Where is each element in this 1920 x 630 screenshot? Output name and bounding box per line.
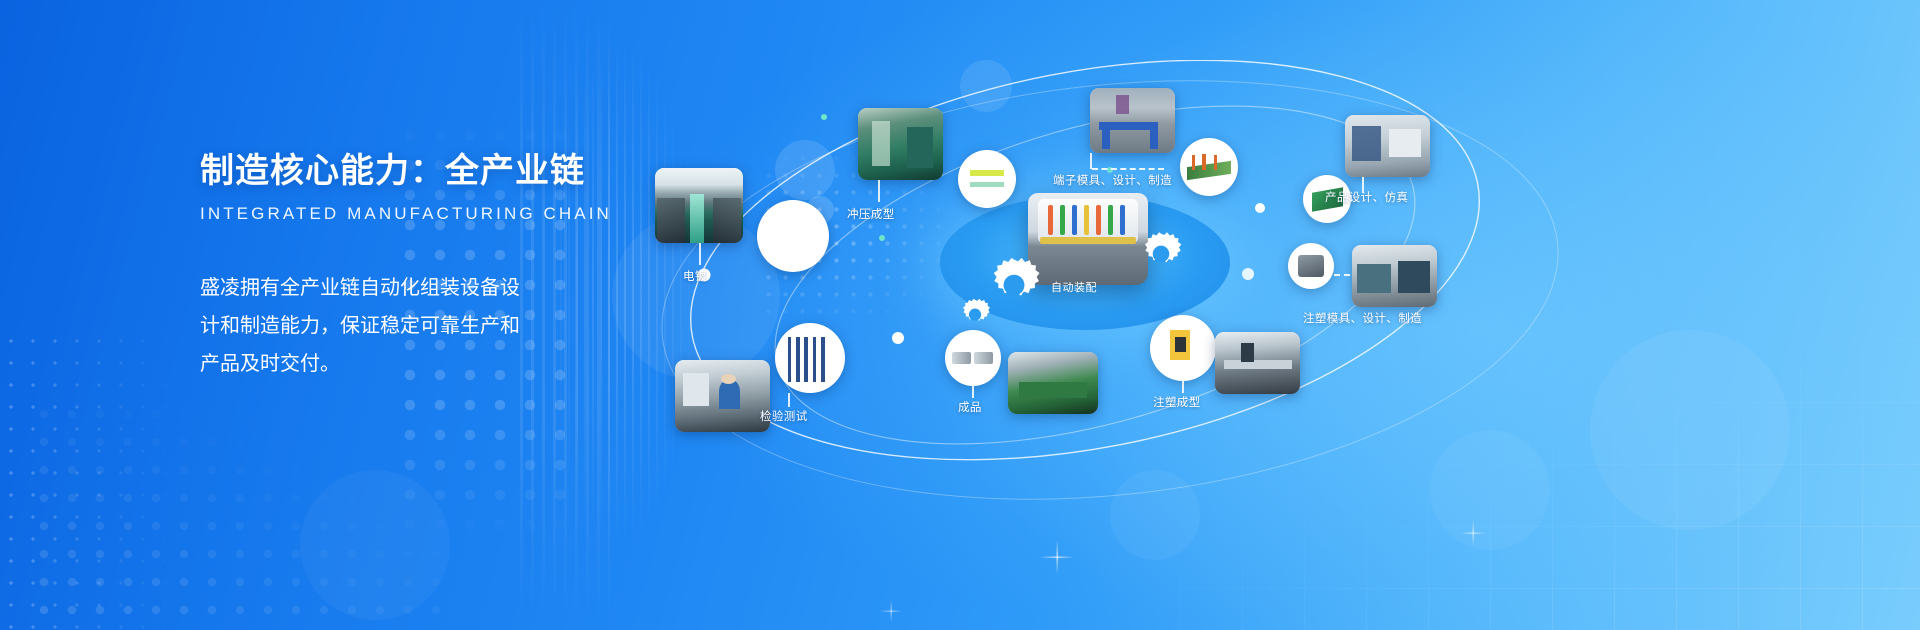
- satellite-assembly-line[interactable]: [1008, 352, 1098, 414]
- connector-line: [788, 393, 790, 407]
- dashed-connector: [1324, 274, 1350, 276]
- node-label-inspection-test: 检验测试: [760, 408, 808, 424]
- manufacturing-chain-diagram: 自动装配 电镀: [640, 60, 1920, 580]
- auto-assembly-module: [1028, 193, 1148, 285]
- node-circ-injection-form[interactable]: [1150, 315, 1216, 381]
- node-label-finished-goods: 成品: [958, 399, 982, 415]
- satellite-press-machine[interactable]: [1215, 332, 1300, 394]
- node-thumb-electroplating[interactable]: [655, 168, 743, 243]
- dot-grid-left: [0, 330, 190, 630]
- node-label-stamping: 冲压成型: [847, 206, 895, 222]
- body-copy: 盛凌拥有全产业链自动化组装设备设 计和制造能力，保证稳定可靠生产和 产品及时交付…: [200, 269, 620, 383]
- gear-icon: [1138, 230, 1184, 276]
- satellite-gray-mold[interactable]: [1288, 243, 1334, 289]
- satellite-probe-array[interactable]: [775, 323, 845, 393]
- connector-line: [699, 243, 701, 265]
- satellite-gold-reel[interactable]: [757, 200, 829, 272]
- page-title: 制造核心能力：全产业链: [200, 143, 620, 192]
- banner-stage: 制造核心能力：全产业链 INTEGRATED MANUFACTURING CHA…: [0, 0, 1920, 630]
- gear-icon: [985, 255, 1043, 313]
- sparkle-icon: [880, 600, 902, 622]
- node-label-electroplating: 电镀: [683, 268, 707, 284]
- hub-label: 自动装配: [1051, 279, 1097, 295]
- node-label-injection-mold: 注塑模具、设计、制造: [1303, 310, 1422, 326]
- dashed-connector: [1092, 168, 1164, 170]
- connector-line: [1182, 381, 1184, 393]
- connector-line: [972, 386, 974, 398]
- satellite-green-pcb[interactable]: [958, 150, 1016, 208]
- body-line-2: 计和制造能力，保证稳定可靠生产和: [200, 307, 620, 345]
- connector-line: [1090, 153, 1092, 169]
- dot-grid-bottom-left: [30, 400, 460, 630]
- node-thumb-injection-mold[interactable]: [1352, 245, 1437, 307]
- node-label-injection-form: 注塑成型: [1153, 394, 1201, 410]
- gear-icon: [958, 297, 992, 331]
- node-circ-finished-goods[interactable]: [945, 330, 1001, 386]
- node-label-terminal-mold: 端子模具、设计、制造: [1053, 172, 1172, 188]
- satellite-pcb-board[interactable]: [1180, 138, 1238, 196]
- text-block: 制造核心能力：全产业链 INTEGRATED MANUFACTURING CHA…: [200, 143, 620, 383]
- node-thumb-product-design[interactable]: [1345, 115, 1430, 177]
- node-label-product-design: 产品设计、仿真: [1325, 189, 1408, 205]
- node-thumb-inspection-test[interactable]: [675, 360, 770, 432]
- node-thumb-stamping[interactable]: [858, 108, 943, 180]
- connector-line: [878, 180, 880, 202]
- page-subtitle: INTEGRATED MANUFACTURING CHAIN: [200, 204, 620, 224]
- node-thumb-terminal-mold[interactable]: [1090, 88, 1175, 153]
- body-line-1: 盛凌拥有全产业链自动化组装设备设: [200, 269, 620, 307]
- body-line-3: 产品及时交付。: [200, 345, 620, 383]
- bokeh-circle: [300, 470, 450, 620]
- orbit-lines: [640, 60, 1920, 580]
